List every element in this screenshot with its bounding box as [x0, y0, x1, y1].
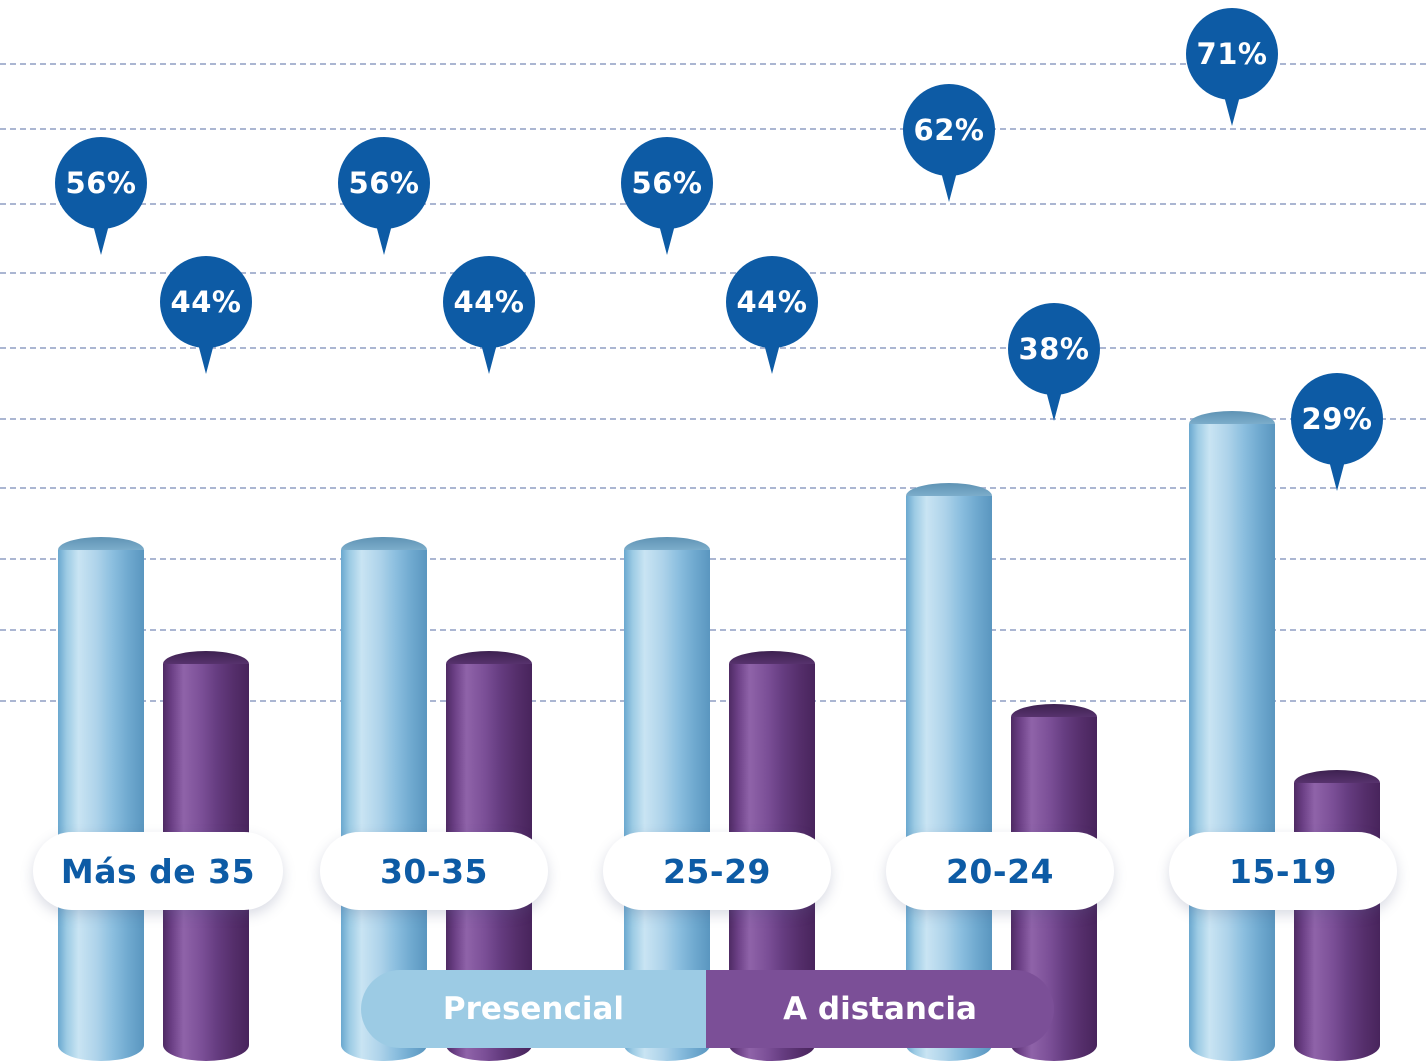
category-label: Más de 35	[61, 852, 255, 891]
legend-label-distancia: A distancia	[783, 991, 977, 1027]
bubble-tail	[1045, 387, 1063, 421]
bar-distancia-15-19	[1294, 770, 1380, 1061]
category-pill-mas-de-35: Más de 35	[33, 832, 283, 910]
value-bubble-presencial-15-19: 71%	[1186, 8, 1278, 100]
bubble-tail	[92, 221, 110, 255]
value-bubble-distancia-mas-de-35: 44%	[160, 256, 252, 348]
bar-presencial-mas-de-35	[58, 537, 144, 1061]
value-label: 44%	[737, 285, 808, 319]
bubble-tail	[1223, 92, 1241, 126]
bubble-tail	[1328, 457, 1346, 491]
value-bubble-presencial-20-24: 62%	[903, 84, 995, 176]
value-label: 62%	[914, 113, 985, 147]
bar-body	[58, 550, 144, 1061]
bar-body	[1189, 424, 1275, 1061]
value-label: 29%	[1302, 402, 1373, 436]
category-pill-15-19: 15-19	[1169, 832, 1397, 910]
value-bubble-distancia-30-35: 44%	[443, 256, 535, 348]
value-label: 44%	[171, 285, 242, 319]
value-bubble-distancia-15-19: 29%	[1291, 373, 1383, 465]
bubble-tail	[375, 221, 393, 255]
value-bubble-presencial-mas-de-35: 56%	[55, 137, 147, 229]
bubble-tail	[940, 168, 958, 202]
value-label: 56%	[349, 166, 420, 200]
legend: Presencial A distancia	[361, 970, 1054, 1048]
bar-body	[1294, 783, 1380, 1061]
value-bubble-distancia-20-24: 38%	[1008, 303, 1100, 395]
category-label: 20-24	[946, 852, 1054, 891]
category-label: 15-19	[1229, 852, 1337, 891]
legend-label-presencial: Presencial	[443, 991, 624, 1027]
category-pill-30-35: 30-35	[320, 832, 548, 910]
category-pill-20-24: 20-24	[886, 832, 1114, 910]
value-bubble-presencial-25-29: 56%	[621, 137, 713, 229]
legend-item-presencial: Presencial	[361, 970, 706, 1048]
gridline	[0, 128, 1426, 130]
chart-area: 56% 44% Más de 35 56% 44% 30-35 56%	[0, 0, 1426, 1061]
value-bubble-presencial-30-35: 56%	[338, 137, 430, 229]
category-pill-25-29: 25-29	[603, 832, 831, 910]
value-label: 44%	[454, 285, 525, 319]
value-label: 38%	[1019, 332, 1090, 366]
bubble-tail	[197, 340, 215, 374]
legend-item-distancia: A distancia	[706, 970, 1054, 1048]
value-bubble-distancia-25-29: 44%	[726, 256, 818, 348]
bubble-tail	[658, 221, 676, 255]
bar-presencial-15-19	[1189, 411, 1275, 1061]
gridline	[0, 203, 1426, 205]
bubble-tail	[763, 340, 781, 374]
value-label: 71%	[1197, 37, 1268, 71]
value-label: 56%	[632, 166, 703, 200]
category-label: 30-35	[380, 852, 488, 891]
value-label: 56%	[66, 166, 137, 200]
category-label: 25-29	[663, 852, 771, 891]
bubble-tail	[480, 340, 498, 374]
